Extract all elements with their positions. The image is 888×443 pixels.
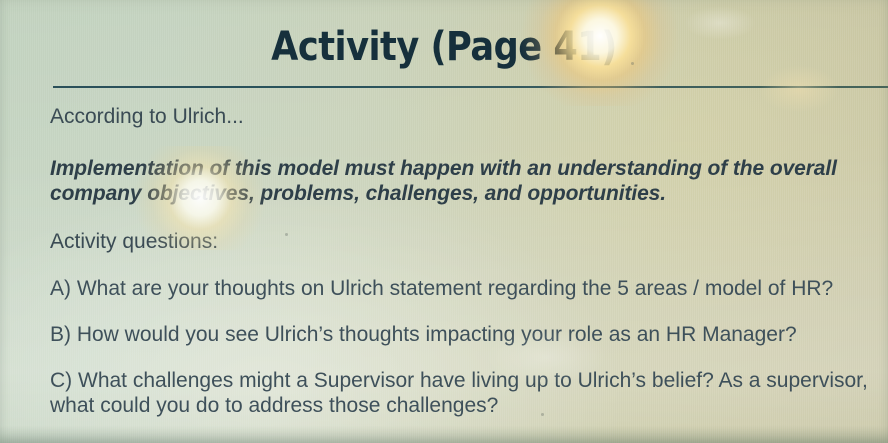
ulrich-quote: Implementation of this model must happen…	[50, 130, 876, 206]
question-a: A) What are your thoughts on Ulrich stat…	[50, 255, 876, 301]
question-c: C) What challenges might a Supervisor ha…	[50, 347, 876, 418]
slide-title: Activity (Page 41)	[53, 24, 834, 70]
slide-body: According to Ulrich... Implementation of…	[50, 104, 876, 418]
intro-line: According to Ulrich...	[50, 104, 876, 130]
question-b: B) How would you see Ulrich’s thoughts i…	[50, 301, 876, 347]
questions-heading: Activity questions:	[50, 206, 876, 255]
title-divider-rule	[53, 86, 888, 88]
presentation-slide-photo: Activity (Page 41) According to Ulrich..…	[0, 0, 888, 443]
slide-content: Activity (Page 41) According to Ulrich..…	[0, 0, 888, 443]
